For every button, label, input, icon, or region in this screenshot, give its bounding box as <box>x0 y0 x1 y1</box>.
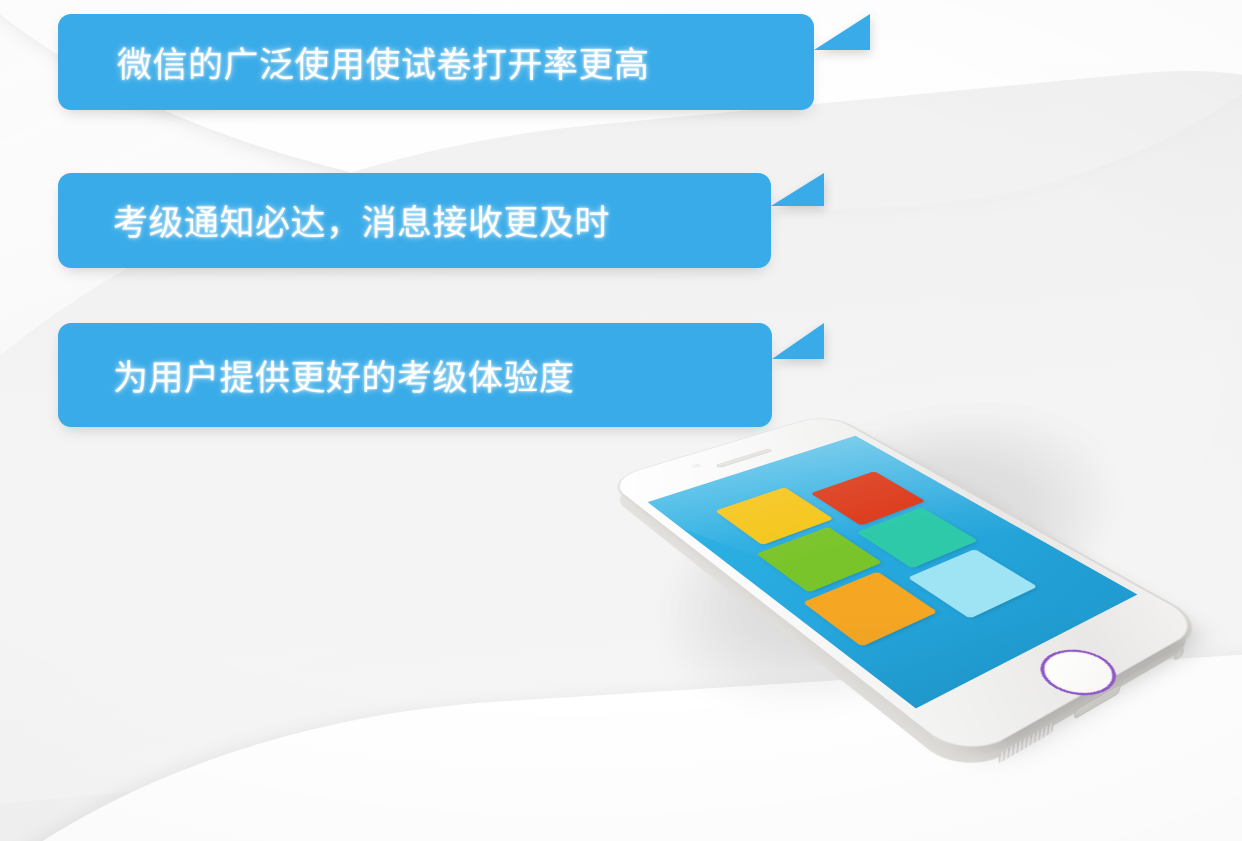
speech-bubble-1-tail <box>814 14 870 50</box>
phone-illustration <box>612 318 1242 748</box>
speech-bubble-2-text: 考级通知必达，消息接收更及时 <box>113 195 610 246</box>
speech-bubble-1-text: 微信的广泛使用使试卷打开率更高 <box>117 37 650 88</box>
tile-light-blue[interactable] <box>908 549 1038 619</box>
slide-canvas: 微信的广泛使用使试卷打开率更高 考级通知必达，消息接收更及时 为用户提供更好的考… <box>0 0 1242 841</box>
speech-bubble-2[interactable]: 考级通知必达，消息接收更及时 <box>58 173 771 268</box>
speech-bubble-3-text: 为用户提供更好的考级体验度 <box>113 350 575 401</box>
speech-bubble-1[interactable]: 微信的广泛使用使试卷打开率更高 <box>58 14 814 110</box>
speech-bubble-2-tail <box>771 173 824 206</box>
